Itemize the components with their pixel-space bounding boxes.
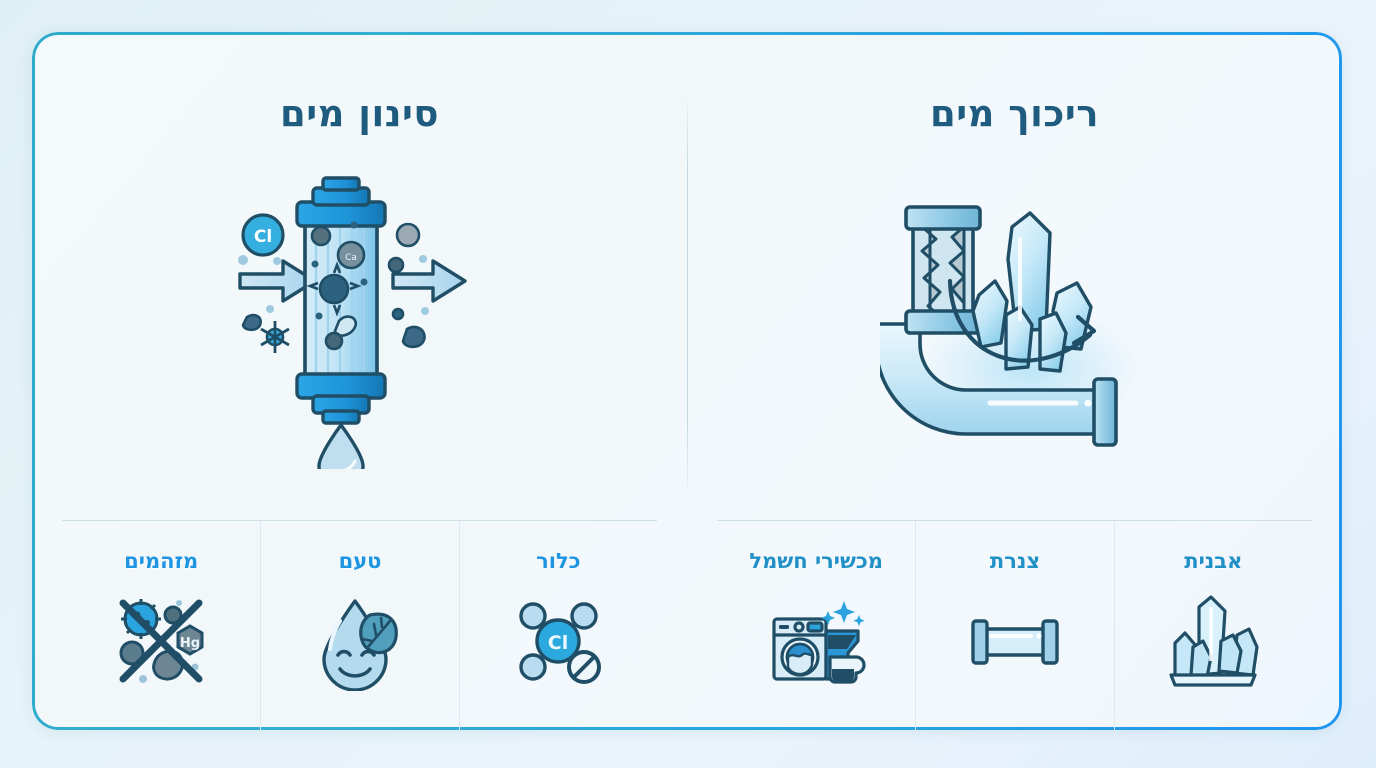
water-filter-cartridge-icon: Cl Ca	[235, 169, 485, 469]
contaminants-crossed-out-icon: Hg	[111, 591, 211, 691]
cell-chlorine[interactable]: כלור Cl	[459, 521, 657, 730]
filtration-cells: כלור Cl	[62, 520, 657, 730]
panel-water-filtration: סינון מים	[32, 32, 687, 730]
cell-taste[interactable]: טעם	[260, 521, 458, 730]
panel-divider	[687, 100, 688, 490]
cell-label-contaminants: מזהמים	[124, 549, 198, 573]
cell-label-chlorine: כלור	[536, 549, 580, 573]
cell-plumbing[interactable]: צנרת	[915, 521, 1113, 730]
panels-container: סינון מים	[32, 32, 1342, 730]
limescale-crystals-icon	[1163, 591, 1263, 691]
infographic-card: סינון מים	[32, 32, 1342, 730]
svg-text:Hg: Hg	[180, 636, 200, 651]
appliances-sparkle-icon	[766, 591, 866, 691]
sparkle-icon	[821, 601, 865, 626]
hero-filtration: Cl Ca	[32, 135, 687, 520]
limescale-pipe-removal-icon	[880, 189, 1150, 449]
hero-softening	[687, 135, 1342, 520]
chlorine-molecule-blocked-icon: Cl	[508, 591, 608, 691]
softening-cells: אבנית	[717, 520, 1312, 730]
cell-label-limescale: אבנית	[1184, 549, 1242, 573]
panel-water-softening: ריכוך מים	[687, 32, 1342, 730]
svg-text:Ca: Ca	[345, 253, 357, 263]
cell-label-plumbing: צנרת	[990, 549, 1040, 573]
panel-title-filtration: סינון מים	[32, 92, 687, 135]
smiling-water-droplet-leaf-icon	[310, 591, 410, 691]
svg-text:Cl: Cl	[253, 227, 271, 247]
cell-contaminants[interactable]: מזהמים	[62, 521, 260, 730]
clean-pipe-section-icon	[965, 591, 1065, 691]
chlorine-bubble: Cl	[243, 215, 283, 255]
cell-label-appliances: מכשירי חשמל	[749, 549, 883, 573]
svg-text:Cl: Cl	[548, 632, 568, 654]
cell-appliances[interactable]: מכשירי חשמל	[717, 521, 915, 730]
panel-title-softening: ריכוך מים	[687, 92, 1342, 135]
cell-label-taste: טעם	[339, 549, 382, 573]
cell-limescale[interactable]: אבנית	[1114, 521, 1312, 730]
